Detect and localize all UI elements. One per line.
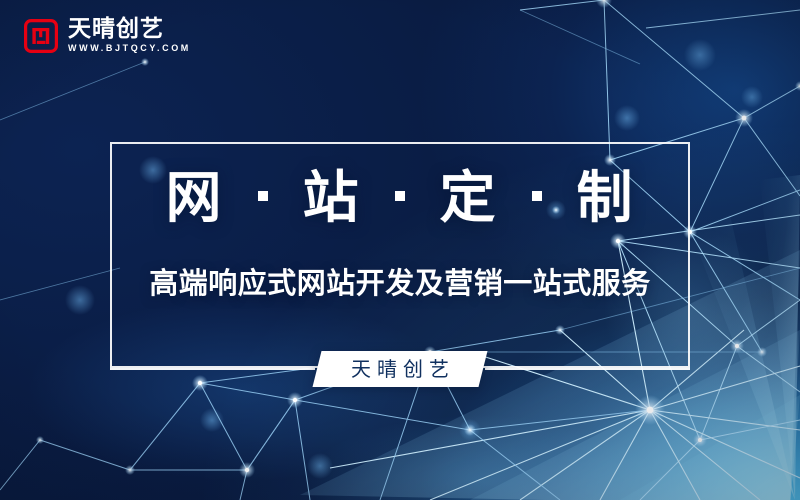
square-dot-separator-icon [395,191,405,201]
tianqing-emblem-icon [24,19,58,53]
square-dot-separator-icon [532,191,542,201]
headline-char-2: 站 [303,168,361,230]
brand-badge-label: 天晴创艺 [345,357,455,381]
badge-rule-right [485,368,690,370]
brand-name-cn: 天晴创艺 [68,17,191,42]
brand-logo-text: 天晴创艺 WWW.BJTQCY.COM [68,17,191,54]
brand-badge-row: 天晴创艺 [110,352,690,386]
brand-badge: 天晴创艺 [313,351,488,387]
headline-char-1: 网 [166,168,224,230]
banner-canvas: 天晴创艺 WWW.BJTQCY.COM 网 站 定 制 高端响应式网站开发及营销… [0,0,800,500]
square-dot-separator-icon [258,191,268,201]
subtitle: 高端响应式网站开发及营销一站式服务 [0,264,800,302]
brand-logo[interactable]: 天晴创艺 WWW.BJTQCY.COM [24,17,191,54]
brand-website-url: WWW.BJTQCY.COM [68,42,191,54]
headline-char-3: 定 [440,168,498,230]
badge-rule-left [110,368,315,370]
headline-char-4: 制 [577,168,635,230]
headline: 网 站 定 制 [0,168,800,230]
